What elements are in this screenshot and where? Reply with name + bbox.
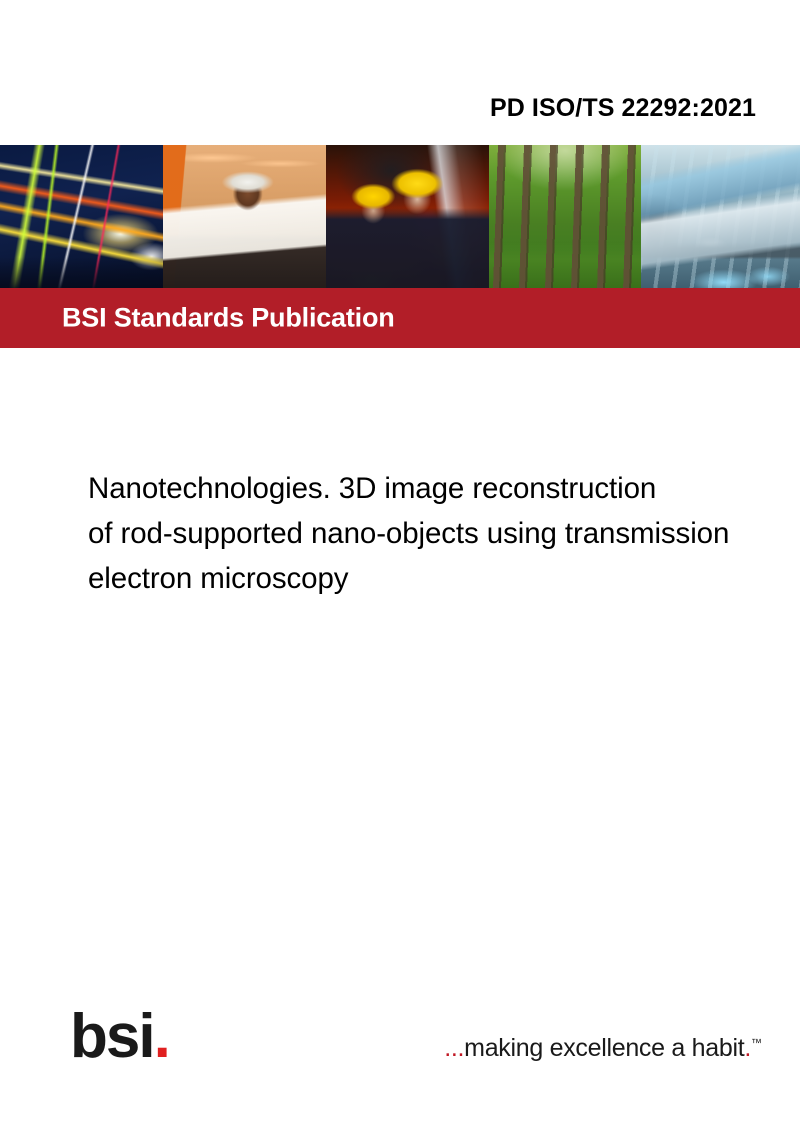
title-line-2: of rod-supported nano-objects using tran…: [88, 511, 800, 556]
document-cover-page: PD ISO/TS 22292:2021 BSI Standards Publi…: [0, 0, 800, 1132]
cover-image-warehouse-worker: [163, 145, 326, 288]
bsi-logo: bsi.: [70, 1006, 169, 1068]
cover-image-car-assembly-line: [641, 145, 800, 288]
document-reference: PD ISO/TS 22292:2021: [490, 94, 756, 123]
bsi-logo-dot: .: [154, 1002, 169, 1071]
title-line-3: electron microscopy: [88, 556, 800, 601]
bsi-logo-text: bsi: [70, 1002, 154, 1071]
tagline-leading-ellipsis: ...: [444, 1034, 464, 1062]
trademark-icon: ™: [751, 1038, 762, 1050]
cover-image-night-traffic-light-trails: [0, 145, 163, 288]
cover-image-forest: [489, 145, 641, 288]
publication-banner: BSI Standards Publication: [0, 288, 800, 348]
cover-photo-strip: [0, 145, 800, 288]
tagline-text: making excellence a habit: [464, 1034, 744, 1062]
publication-banner-label: BSI Standards Publication: [62, 303, 395, 334]
document-title: Nanotechnologies. 3D image reconstructio…: [88, 466, 800, 601]
tagline-end-dot: .: [744, 1034, 751, 1062]
title-line-1: Nanotechnologies. 3D image reconstructio…: [88, 466, 800, 511]
bsi-tagline: ...making excellence a habit.™: [444, 1036, 762, 1061]
cover-image-firefighters: [326, 145, 489, 288]
